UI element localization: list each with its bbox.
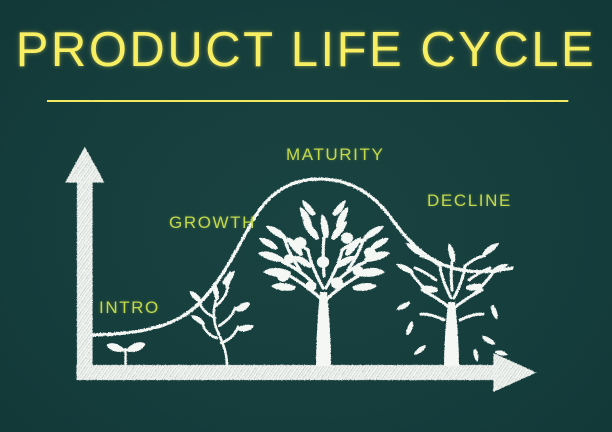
- chalkboard-canvas: PRODUCT LIFE CYCLE INTRO GROWTH MATURITY…: [0, 0, 612, 432]
- stage-label-growth: GROWTH: [169, 214, 256, 231]
- x-axis-arrow: [77, 354, 535, 391]
- tree-icon: [258, 200, 390, 366]
- page-title: PRODUCT LIFE CYCLE: [0, 26, 612, 75]
- title-underline: [49, 101, 566, 102]
- sprout-icon: [107, 342, 146, 366]
- y-axis-arrow: [66, 148, 104, 372]
- stage-label-decline: DECLINE: [427, 192, 512, 209]
- stage-label-intro: INTRO: [99, 299, 160, 316]
- sapling-icon: [200, 288, 238, 366]
- stage-label-maturity: MATURITY: [286, 146, 384, 163]
- bare-tree-icon: [396, 243, 508, 366]
